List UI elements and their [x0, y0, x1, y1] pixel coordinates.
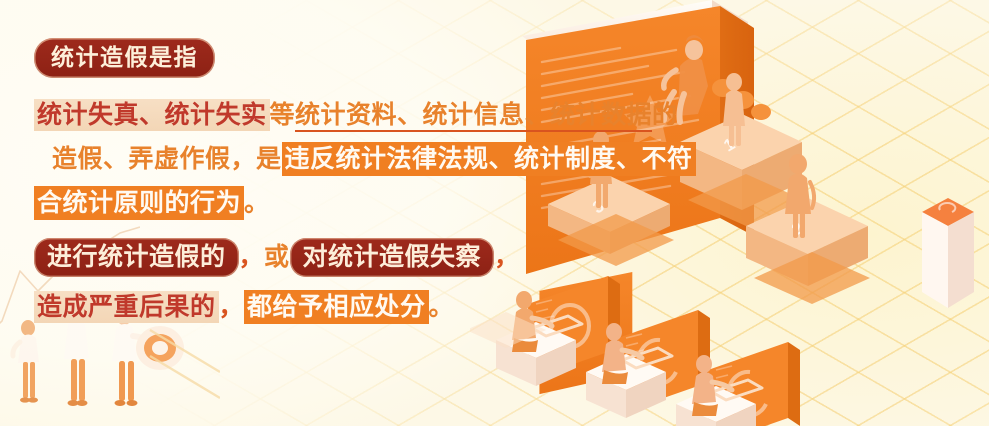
paragraph-line: 造假、弄虚作假，是违反统计法律法规、统计制度、不符: [52, 140, 696, 178]
server-device: [922, 198, 974, 308]
page-title: 统计造假是指: [34, 38, 215, 78]
text-run: 。: [244, 189, 270, 217]
text-run: 违反统计法律法规、统计制度、不符: [282, 142, 696, 176]
paragraph-line: 造成严重后果的，都给予相应处分。: [34, 288, 520, 326]
paragraph-line: 进行统计造假的，或对统计造假失察，: [34, 236, 520, 278]
paragraph-line: 统计失真、统计失实等统计资料、统计信息、统计数据的: [34, 96, 696, 134]
text-run: 合统计原则的行为: [34, 186, 244, 220]
text-run: 或: [264, 243, 290, 271]
text-run: 统计失真、统计失实: [34, 99, 270, 131]
paragraph-penalty: 进行统计造假的，或对统计造假失察， 造成严重后果的，都给予相应处分。: [34, 236, 520, 332]
text-run: 统计资料、统计信息、统计数据: [295, 101, 652, 132]
paragraph-definition: 统计失真、统计失实等统计资料、统计信息、统计数据的 造假、弄虚作假，是违反统计法…: [34, 96, 696, 228]
text-run: 对统计造假失察: [290, 238, 495, 277]
text-run: 造成严重后果的: [34, 291, 219, 323]
text-run: 造假、弄虚作假，是: [52, 145, 282, 173]
text-run: 等: [270, 101, 296, 129]
text-run: ，: [239, 243, 265, 271]
text-column: 统计造假是指 统计失真、统计失实等统计资料、统计信息、统计数据的 造假、弄虚作假…: [0, 0, 680, 426]
text-run: ，: [219, 293, 245, 321]
text-run: 进行统计造假的: [34, 238, 239, 277]
text-run: 都给予相应处分: [244, 290, 429, 324]
text-run: 的: [652, 101, 678, 129]
text-run: ，: [494, 243, 520, 271]
text-run: 。: [429, 293, 455, 321]
poster-canvas: 3 1 2: [0, 0, 989, 426]
paragraph-line: 合统计原则的行为。: [34, 184, 696, 222]
